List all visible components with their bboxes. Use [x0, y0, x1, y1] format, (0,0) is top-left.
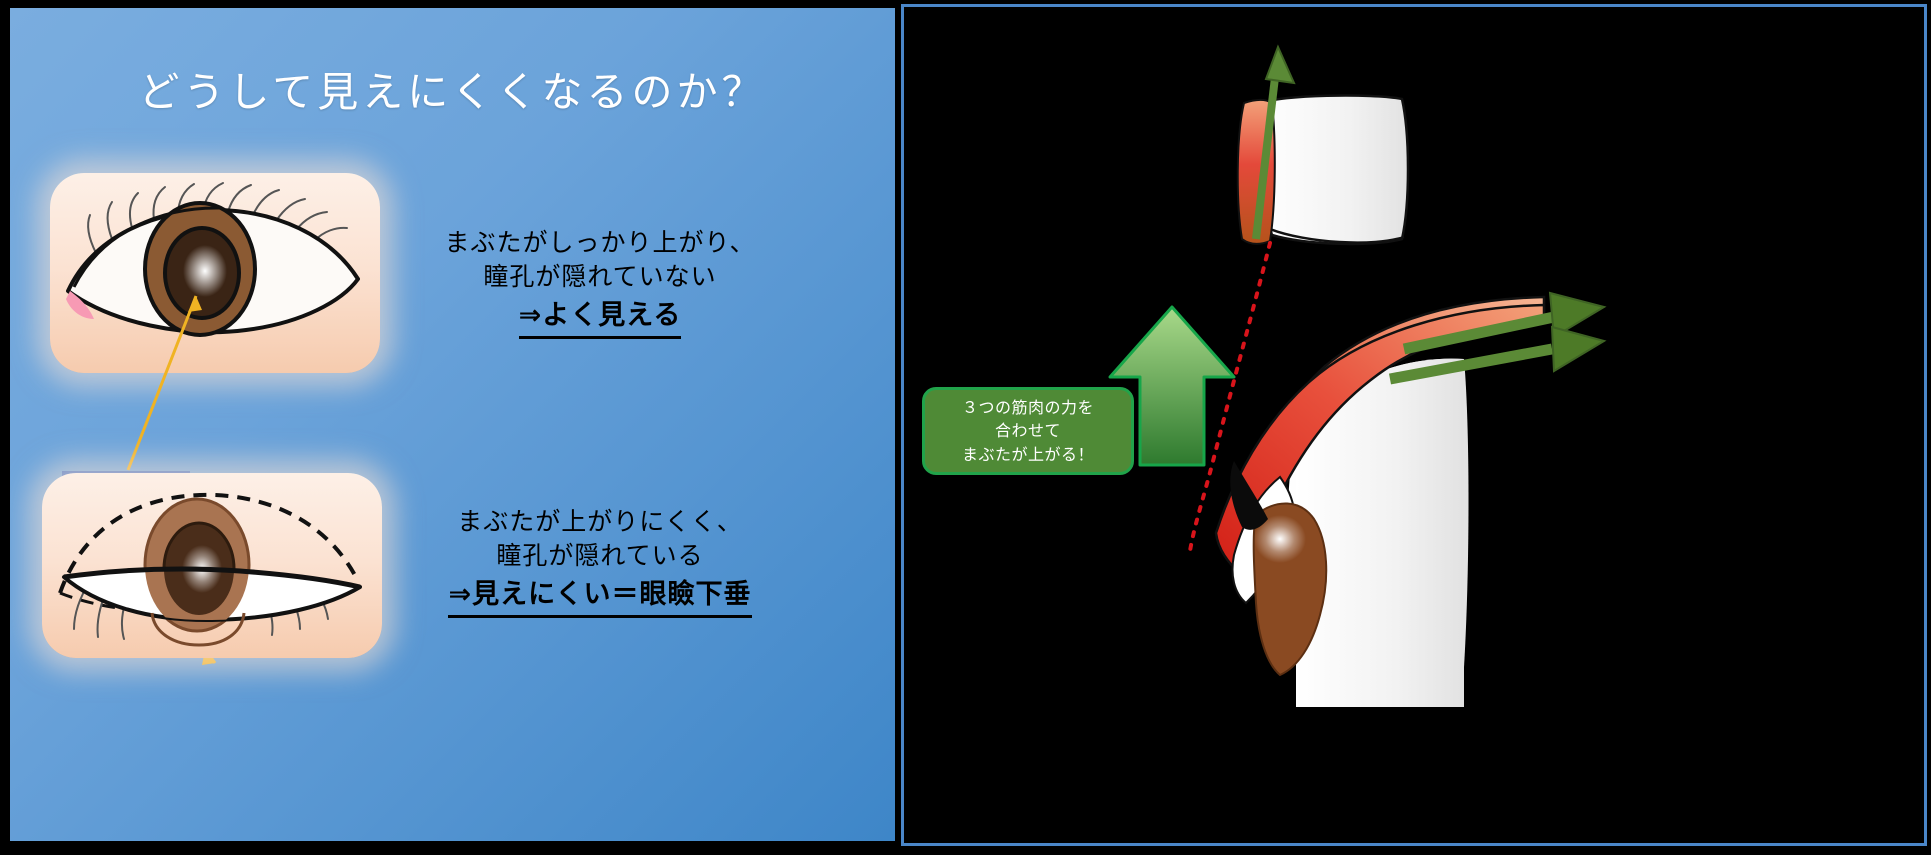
- caption-ptosis-line2: 瞳孔が隠れている: [390, 539, 810, 573]
- callout-line2: 合わせて: [962, 419, 1094, 442]
- caption-ptosis-conclusion: ⇒見えにくい＝眼瞼下垂: [448, 577, 751, 618]
- muscle-force-callout: ３つの筋肉の力を 合わせて まぶたが上がる！: [922, 387, 1134, 475]
- callout-line3: まぶたが上がる！: [962, 443, 1094, 466]
- caption-normal-line2: 瞳孔が隠れていない: [390, 260, 810, 294]
- pupil-pointer-lines: [10, 8, 895, 841]
- caption-ptosis-line1: まぶたが上がりにくく、: [390, 505, 810, 539]
- callout-line1: ３つの筋肉の力を: [962, 396, 1094, 419]
- slide-stage: どうして見えにくくなるのか？: [0, 0, 1931, 855]
- ptosis-eye-drawing: [42, 473, 382, 658]
- caption-normal-conclusion: ⇒よく見える: [519, 298, 682, 339]
- caption-normal-eye: まぶたがしっかり上がり、 瞳孔が隠れていない ⇒よく見える: [390, 226, 810, 339]
- ptosis-eye-illustration-card: [42, 473, 382, 658]
- caption-normal-line1: まぶたがしっかり上がり、: [390, 226, 810, 260]
- right-slide-panel: ３つの筋肉の力を 合わせて まぶたが上がる！: [901, 4, 1927, 846]
- left-slide-panel: どうして見えにくくなるのか？: [10, 8, 895, 841]
- caption-ptosis-eye: まぶたが上がりにくく、 瞳孔が隠れている ⇒見えにくい＝眼瞼下垂: [390, 505, 810, 618]
